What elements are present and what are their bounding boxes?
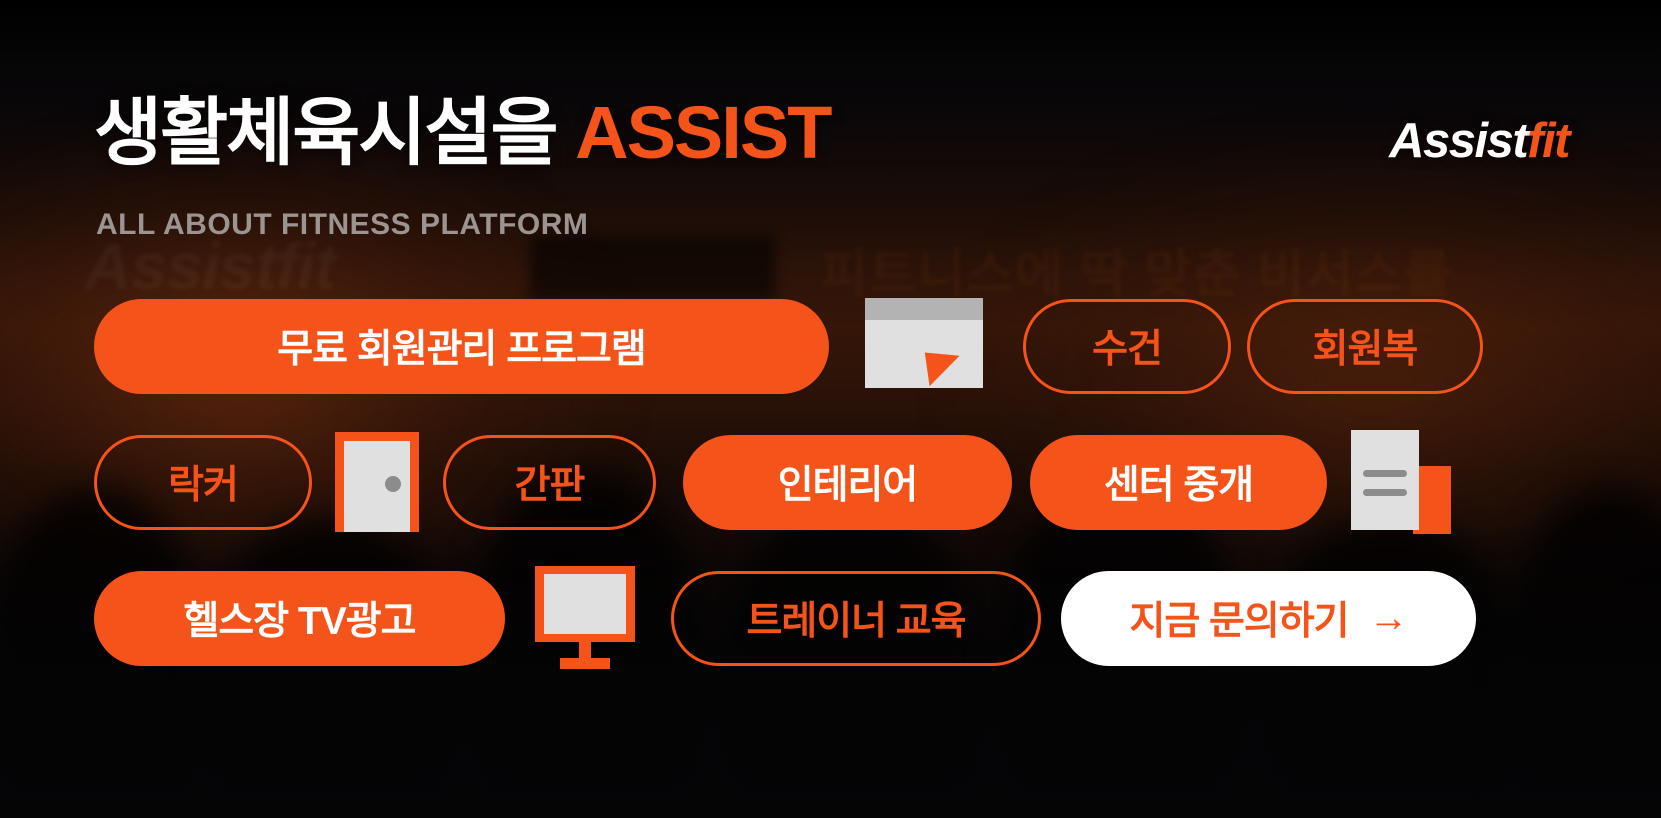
page-title: 생활체육시설을 ASSIST xyxy=(94,96,830,170)
monitor-screen xyxy=(544,574,626,634)
monitor-foot xyxy=(560,658,610,669)
tag-label: 헬스장 TV광고 xyxy=(183,590,415,646)
tag-free-member-management-program[interactable]: 무료 회원관리 프로그램 xyxy=(94,299,829,394)
tag-label: 무료 회원관리 프로그램 xyxy=(277,318,645,374)
tag-label: 간판 xyxy=(515,454,585,510)
document-sheet xyxy=(1351,430,1419,530)
tag-signboard[interactable]: 간판 xyxy=(443,435,656,530)
document-line xyxy=(1363,489,1407,496)
service-tag-groups: 무료 회원관리 프로그램 수건 회원복 락커 xyxy=(94,292,1574,672)
window-titlebar xyxy=(865,298,983,320)
door-knob xyxy=(385,476,401,492)
tag-label: 수건 xyxy=(1092,318,1162,374)
headline-accent-text: ASSIST xyxy=(575,91,830,174)
service-tag-row-2: 락커 간판 인테리어 센터 중개 xyxy=(94,428,1574,536)
tag-label: 센터 중개 xyxy=(1104,454,1253,510)
arrow-right-icon: → xyxy=(1369,596,1408,641)
browser-window-cursor-icon xyxy=(865,298,983,394)
monitor-icon xyxy=(535,566,635,671)
tag-member-uniform[interactable]: 회원복 xyxy=(1247,299,1483,394)
service-tag-row-3: 헬스장 TV광고 트레이너 교육 지금 문의하기 → xyxy=(94,564,1574,672)
tag-label: 트레이너 교육 xyxy=(746,590,965,646)
page-subtitle: ALL ABOUT FITNESS PLATFORM xyxy=(96,208,588,242)
headline-main-text: 생활체육시설을 xyxy=(94,91,575,174)
tag-label: 락커 xyxy=(168,454,238,510)
tag-gym-tv-advertising[interactable]: 헬스장 TV광고 xyxy=(94,571,505,666)
logo-accent-text: fit xyxy=(1527,114,1569,168)
document-icon xyxy=(1351,430,1451,534)
background-ghost-panel xyxy=(530,236,775,300)
contact-now-label: 지금 문의하기 xyxy=(1129,590,1348,646)
tag-locker[interactable]: 락커 xyxy=(94,435,312,530)
document-line xyxy=(1363,470,1407,477)
tag-interior[interactable]: 인테리어 xyxy=(683,435,1012,530)
contact-now-button[interactable]: 지금 문의하기 → xyxy=(1061,571,1476,666)
cursor-arrow xyxy=(925,348,963,386)
tag-label: 인테리어 xyxy=(778,454,918,510)
tag-trainer-education[interactable]: 트레이너 교육 xyxy=(671,571,1041,666)
tag-center-brokerage[interactable]: 센터 중개 xyxy=(1030,435,1327,530)
logo-primary-text: Assist xyxy=(1389,114,1527,168)
tag-label: 회원복 xyxy=(1313,318,1418,374)
hero-banner: Assistfit 피트니스에 딱 맞춘 비서스를 생활체육시설을 ASSIST… xyxy=(0,0,1661,818)
service-tag-row-1: 무료 회원관리 프로그램 수건 회원복 xyxy=(94,292,1574,400)
tag-towel[interactable]: 수건 xyxy=(1023,299,1231,394)
locker-door-icon xyxy=(335,432,419,532)
brand-logo: Assistfit xyxy=(1389,113,1569,169)
